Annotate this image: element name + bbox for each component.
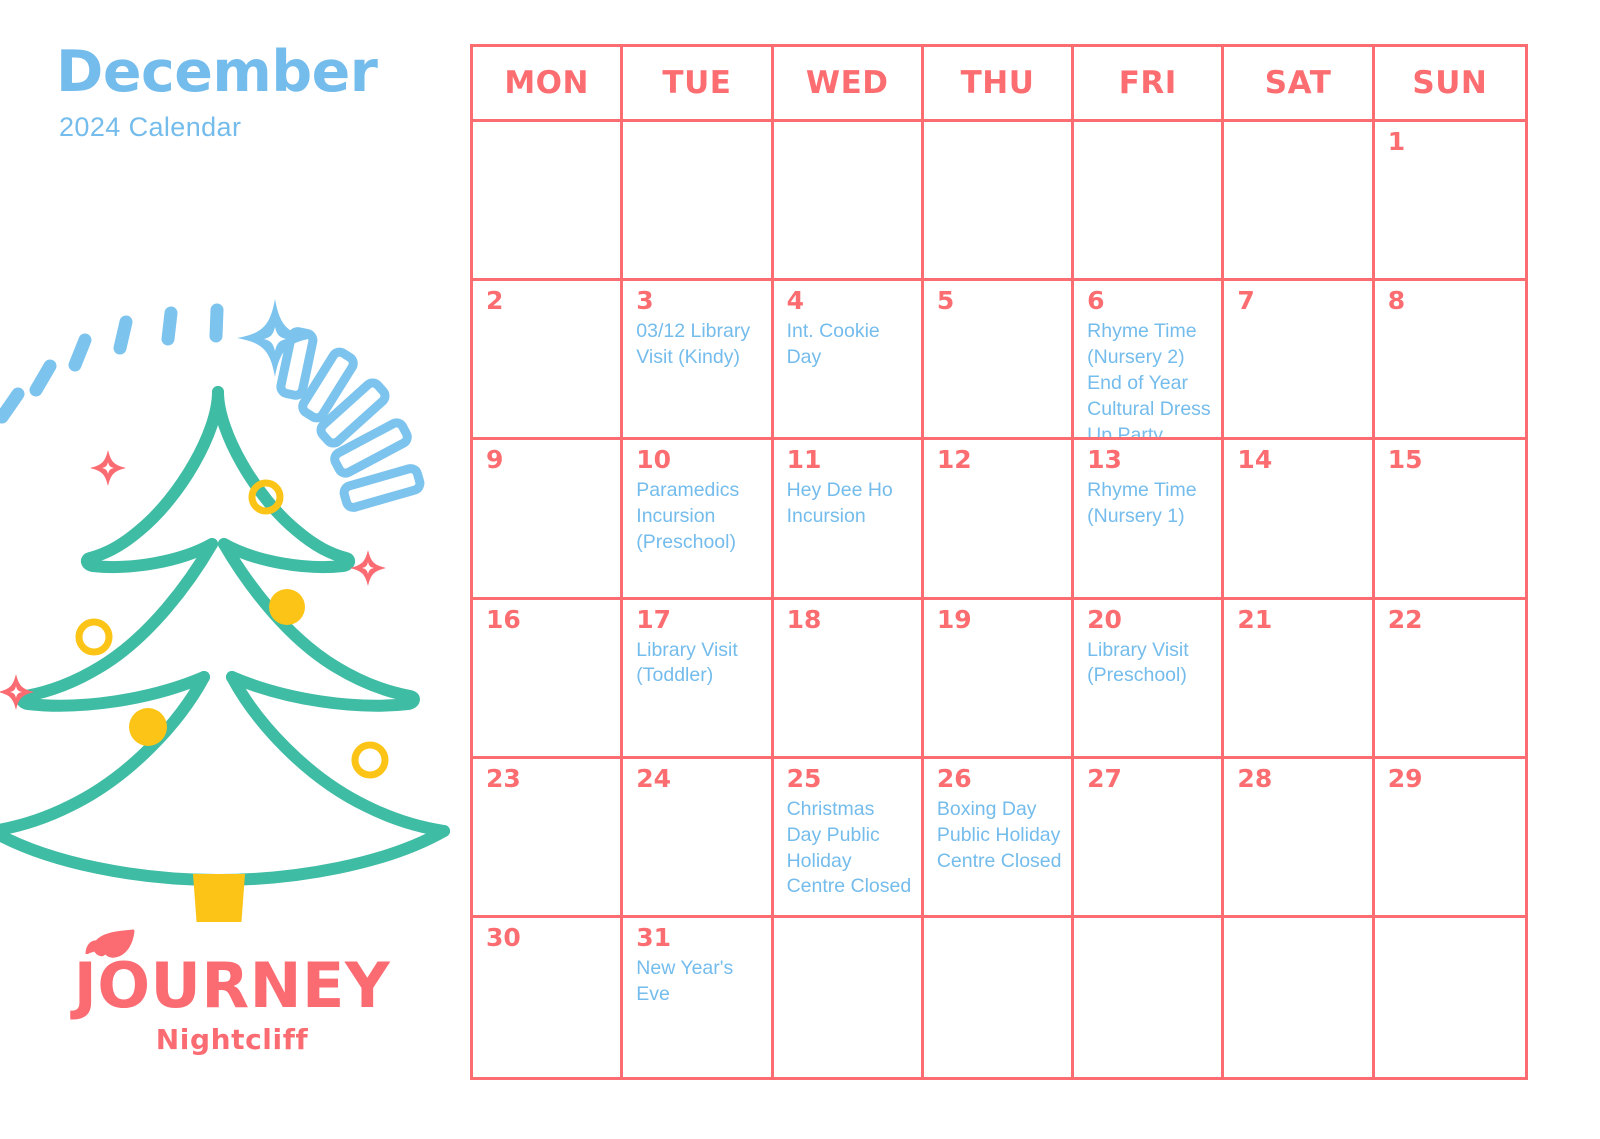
- page-title: December: [56, 42, 456, 104]
- day-number: 30: [486, 924, 521, 952]
- calendar-grid: MONTUEWEDTHUFRISATSUN12303/12 Library Vi…: [470, 44, 1528, 1080]
- day-number: 21: [1237, 606, 1272, 634]
- day-number: 4: [787, 287, 804, 315]
- day-cell-empty[interactable]: [473, 122, 623, 281]
- day-cell-empty[interactable]: [1074, 122, 1224, 281]
- day-cell-26[interactable]: 26Boxing Day Public Holiday Centre Close…: [924, 759, 1074, 918]
- day-cell-29[interactable]: 29: [1375, 759, 1525, 918]
- ornament-circle-icon: [79, 483, 385, 775]
- title-block: December 2024 Calendar: [56, 42, 456, 143]
- day-cell-empty[interactable]: [1224, 918, 1374, 1077]
- day-number: 6: [1087, 287, 1104, 315]
- day-events: Library Visit (Preschool): [1087, 638, 1214, 690]
- day-events: Boxing Day Public Holiday Centre Closed: [937, 797, 1064, 875]
- star-topper-icon: [237, 299, 313, 377]
- day-number: 2: [486, 287, 503, 315]
- day-number: 26: [937, 765, 972, 793]
- day-cell-8[interactable]: 8: [1375, 281, 1525, 440]
- day-cell-6[interactable]: 6Rhyme Time (Nursery 2) End of Year Cult…: [1074, 281, 1224, 440]
- day-cell-11[interactable]: 11Hey Dee Ho Incursion: [774, 440, 924, 599]
- day-cell-empty[interactable]: [924, 122, 1074, 281]
- day-events: Hey Dee Ho Incursion: [787, 478, 914, 530]
- weekday-header-thu: THU: [924, 47, 1074, 122]
- day-cell-14[interactable]: 14: [1224, 440, 1374, 599]
- day-cell-18[interactable]: 18: [774, 600, 924, 759]
- day-number: 12: [937, 446, 972, 474]
- day-cell-20[interactable]: 20Library Visit (Preschool): [1074, 600, 1224, 759]
- day-cell-empty[interactable]: [774, 122, 924, 281]
- day-cell-21[interactable]: 21: [1224, 600, 1374, 759]
- day-cell-23[interactable]: 23: [473, 759, 623, 918]
- logo-location: Nightcliff: [42, 1023, 422, 1056]
- day-number: 16: [486, 606, 521, 634]
- day-cell-1[interactable]: 1: [1375, 122, 1525, 281]
- page-subtitle: 2024 Calendar: [59, 112, 456, 143]
- day-cell-25[interactable]: 25Christmas Day Public Holiday Centre Cl…: [774, 759, 924, 918]
- day-number: 24: [636, 765, 671, 793]
- weekday-header-sun: SUN: [1375, 47, 1525, 122]
- day-number: 17: [636, 606, 671, 634]
- day-cell-17[interactable]: 17 Library Visit (Toddler): [623, 600, 773, 759]
- logo-wordmark: JOURNEY: [74, 955, 391, 1017]
- day-cell-3[interactable]: 303/12 Library Visit (Kindy): [623, 281, 773, 440]
- day-number: 13: [1087, 446, 1122, 474]
- day-cell-4[interactable]: 4Int. Cookie Day: [774, 281, 924, 440]
- sprout-icon: [83, 928, 139, 968]
- day-cell-15[interactable]: 15: [1375, 440, 1525, 599]
- day-number: 28: [1237, 765, 1272, 793]
- day-number: 27: [1087, 765, 1122, 793]
- day-cell-2[interactable]: 2: [473, 281, 623, 440]
- day-number: 1: [1388, 128, 1405, 156]
- journey-logo: JOURNEY Nightcliff: [42, 955, 422, 1056]
- tree-trunk-icon: [193, 874, 245, 922]
- day-cell-24[interactable]: 24: [623, 759, 773, 918]
- day-number: 11: [787, 446, 822, 474]
- day-cell-16[interactable]: 16: [473, 600, 623, 759]
- day-number: 18: [787, 606, 822, 634]
- weekday-header-tue: TUE: [623, 47, 773, 122]
- day-events: Int. Cookie Day: [787, 319, 914, 371]
- day-number: 8: [1388, 287, 1405, 315]
- day-number: 10: [636, 446, 671, 474]
- day-number: 23: [486, 765, 521, 793]
- day-cell-empty[interactable]: [924, 918, 1074, 1077]
- day-cell-10[interactable]: 10Paramedics Incursion (Preschool): [623, 440, 773, 599]
- day-number: 7: [1237, 287, 1254, 315]
- day-events: 03/12 Library Visit (Kindy): [636, 319, 763, 371]
- weekday-header-fri: FRI: [1074, 47, 1224, 122]
- day-number: 25: [787, 765, 822, 793]
- day-number: 20: [1087, 606, 1122, 634]
- day-number: 22: [1388, 606, 1423, 634]
- christmas-tree-illustration: [0, 282, 470, 922]
- day-events: Christmas Day Public Holiday Centre Clos…: [787, 797, 914, 901]
- day-number: 31: [636, 924, 671, 952]
- day-cell-31[interactable]: 31New Year's Eve: [623, 918, 773, 1077]
- day-events: Rhyme Time (Nursery 1): [1087, 478, 1214, 530]
- left-decorative-panel: December 2024 Calendar: [0, 0, 468, 1139]
- christmas-tree-icon: [0, 392, 444, 880]
- day-number: 14: [1237, 446, 1272, 474]
- day-events: New Year's Eve: [636, 956, 763, 1008]
- day-cell-empty[interactable]: [623, 122, 773, 281]
- day-cell-empty[interactable]: [1074, 918, 1224, 1077]
- day-events: Library Visit (Toddler): [636, 638, 763, 690]
- day-number: 29: [1388, 765, 1423, 793]
- day-cell-empty[interactable]: [1375, 918, 1525, 1077]
- weekday-header-mon: MON: [473, 47, 623, 122]
- day-cell-19[interactable]: 19: [924, 600, 1074, 759]
- day-cell-30[interactable]: 30: [473, 918, 623, 1077]
- day-number: 19: [937, 606, 972, 634]
- day-cell-9[interactable]: 9: [473, 440, 623, 599]
- day-cell-27[interactable]: 27: [1074, 759, 1224, 918]
- day-number: 3: [636, 287, 653, 315]
- day-cell-empty[interactable]: [774, 918, 924, 1077]
- day-cell-28[interactable]: 28: [1224, 759, 1374, 918]
- day-cell-empty[interactable]: [1224, 122, 1374, 281]
- day-cell-5[interactable]: 5: [924, 281, 1074, 440]
- day-number: 15: [1388, 446, 1423, 474]
- day-cell-12[interactable]: 12: [924, 440, 1074, 599]
- weekday-header-wed: WED: [774, 47, 924, 122]
- day-number: 9: [486, 446, 503, 474]
- ribbon-streamer-icon: [280, 330, 422, 509]
- day-cell-13[interactable]: 13Rhyme Time (Nursery 1): [1074, 440, 1224, 599]
- day-number: 5: [937, 287, 954, 315]
- weekday-header-sat: SAT: [1224, 47, 1374, 122]
- day-cell-22[interactable]: 22: [1375, 600, 1525, 759]
- dashed-arc-icon: [2, 310, 217, 417]
- day-events: Paramedics Incursion (Preschool): [636, 478, 763, 556]
- day-cell-7[interactable]: 7: [1224, 281, 1374, 440]
- day-events: Rhyme Time (Nursery 2) End of Year Cultu…: [1087, 319, 1214, 440]
